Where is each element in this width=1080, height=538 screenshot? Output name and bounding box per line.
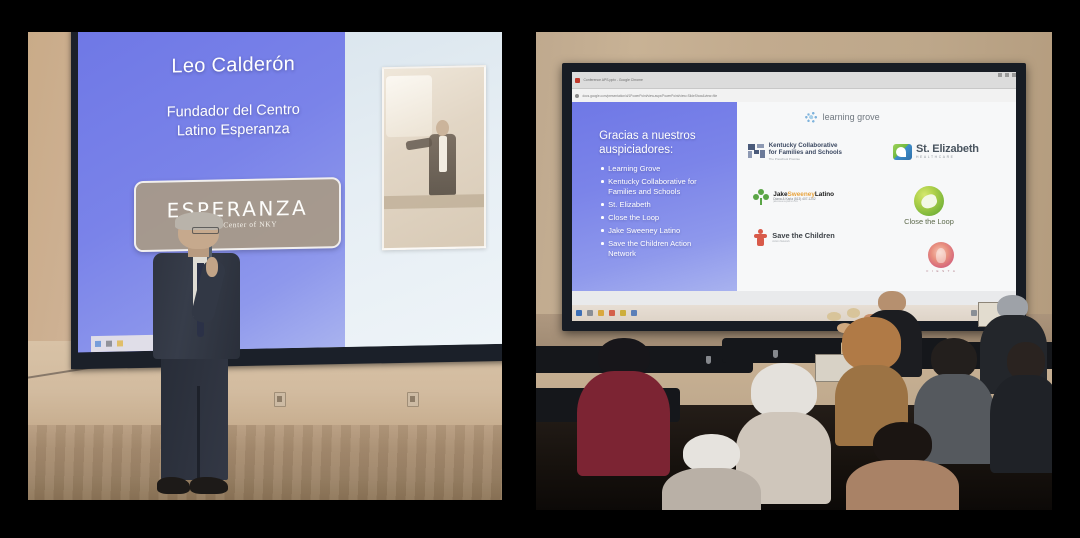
projected-slide-right: Conference APS.pptx - Google Chrome docs… bbox=[572, 72, 1015, 321]
sponsor-bullet-list: Learning Grove Kentucky Collaborative fo… bbox=[599, 164, 719, 259]
audience-member bbox=[846, 422, 960, 510]
slide-heading: Gracias a nuestros auspiciadores: bbox=[599, 129, 719, 157]
pink-circle-emblem-icon bbox=[928, 242, 954, 268]
browser-address-bar[interactable]: docs.google.com/presentation/d/1PowerPoi… bbox=[572, 88, 1015, 103]
sponsor-logo-save-the-children: Save the Children Action Network bbox=[753, 229, 834, 246]
app-icon bbox=[117, 340, 123, 346]
sponsor-name: F I E S T A bbox=[927, 269, 957, 273]
sponsor-name-part-3: Latino bbox=[815, 191, 834, 198]
folder-icon bbox=[106, 341, 112, 347]
sponsor-logo-close-the-loop: Close the Loop bbox=[904, 186, 954, 226]
shamrock-icon bbox=[753, 189, 769, 205]
square-blocks-icon bbox=[748, 144, 765, 159]
speaker-shoe bbox=[157, 477, 190, 494]
audience-member bbox=[577, 338, 670, 468]
wood-floor bbox=[28, 425, 502, 500]
lock-icon bbox=[575, 94, 579, 98]
sponsor-name: learning grove bbox=[823, 112, 880, 122]
left-speaker-photo: Leo Calderón Fundador del Centro Latino … bbox=[28, 32, 502, 500]
slide-content: Gracias a nuestros auspiciadores: Learni… bbox=[572, 102, 1015, 291]
inset-bench bbox=[385, 195, 484, 210]
favicon-icon bbox=[575, 78, 580, 83]
browser-tab-bar[interactable]: Conference APS.pptx - Google Chrome bbox=[572, 72, 1015, 88]
window-controls[interactable] bbox=[998, 73, 1016, 77]
sponsor-name: Close the Loop bbox=[904, 217, 954, 226]
speaker-figure bbox=[147, 215, 251, 500]
slide-inset-photo bbox=[383, 65, 486, 251]
sponsor-logo-panel: learning grove Kentucky Collaborative fo… bbox=[737, 102, 1016, 291]
close-icon[interactable] bbox=[1012, 73, 1016, 77]
list-item: St. Elizabeth bbox=[599, 200, 719, 210]
browser-tab-title: Conference APS.pptx - Google Chrome bbox=[583, 78, 642, 82]
sponsor-logo-jake-sweeney-latino: JakeSweeneyLatino Diana & Karla (513) 40… bbox=[753, 189, 834, 205]
speaker-leg-gap bbox=[197, 386, 200, 480]
red-child-figure-icon bbox=[753, 229, 768, 246]
sponsor-name-line-2: for Families and Schools bbox=[769, 149, 842, 156]
list-item: Kentucky Collaborative for Families and … bbox=[599, 177, 719, 197]
sponsor-subtitle: Action Network bbox=[772, 240, 834, 243]
sponsor-subtitle: The Preschool Promise bbox=[769, 157, 842, 161]
list-item: Close the Loop bbox=[599, 213, 719, 223]
browser-chrome: Conference APS.pptx - Google Chrome docs… bbox=[572, 72, 1015, 102]
image-canvas: Leo Calderón Fundador del Centro Latino … bbox=[0, 0, 1080, 538]
inset-person-shirt bbox=[439, 136, 447, 172]
projection-screen-bezel: Conference APS.pptx - Google Chrome docs… bbox=[562, 63, 1026, 331]
dotted-circle-icon bbox=[804, 110, 819, 125]
audience-member bbox=[830, 317, 913, 439]
sponsor-logo-st-elizabeth: St. Elizabeth HEALTHCARE bbox=[893, 144, 979, 160]
wall-outlet bbox=[407, 392, 419, 407]
windows-start-icon bbox=[95, 341, 101, 347]
sponsor-website: jakesweeneylatino.com bbox=[773, 201, 834, 204]
slide-bullet-panel: Gracias a nuestros auspiciadores: Learni… bbox=[572, 102, 736, 291]
sponsor-logo-learning-grove: learning grove bbox=[804, 110, 880, 125]
sponsor-subtitle: HEALTHCARE bbox=[916, 155, 979, 159]
wall-outlet bbox=[274, 392, 286, 407]
list-item: Jake Sweeney Latino bbox=[599, 226, 719, 236]
sponsor-name: Save the Children bbox=[772, 232, 834, 240]
sponsor-logo-kentucky-collaborative: Kentucky Collaborative for Families and … bbox=[748, 142, 842, 161]
slide-subtitle: Fundador del Centro Latino Esperanza bbox=[113, 100, 355, 143]
sponsor-logo-fiesta: F I E S T A bbox=[927, 242, 957, 273]
sponsor-name: St. Elizabeth bbox=[916, 144, 979, 155]
speaker-legs bbox=[161, 354, 228, 480]
glasses-icon bbox=[192, 227, 219, 235]
list-item: Save the Children Action Network bbox=[599, 239, 719, 259]
green-blue-swoosh-icon bbox=[893, 144, 912, 160]
speaker-shoe bbox=[190, 477, 228, 494]
audience-member bbox=[660, 434, 763, 510]
browser-url: docs.google.com/presentation/d/1PowerPoi… bbox=[582, 94, 1015, 98]
inset-backdrop bbox=[387, 75, 433, 137]
minimize-icon[interactable] bbox=[998, 73, 1002, 77]
maximize-icon[interactable] bbox=[1005, 73, 1009, 77]
sponsor-name-line-1: Kentucky Collaborative bbox=[769, 142, 842, 149]
audience-member bbox=[990, 342, 1052, 468]
projected-slide-left: Leo Calderón Fundador del Centro Latino … bbox=[78, 32, 502, 352]
list-item: Learning Grove bbox=[599, 164, 719, 174]
audience-group bbox=[536, 300, 1052, 510]
right-audience-photo: Conference APS.pptx - Google Chrome docs… bbox=[536, 32, 1052, 510]
green-sphere-leaf-icon bbox=[914, 186, 944, 216]
